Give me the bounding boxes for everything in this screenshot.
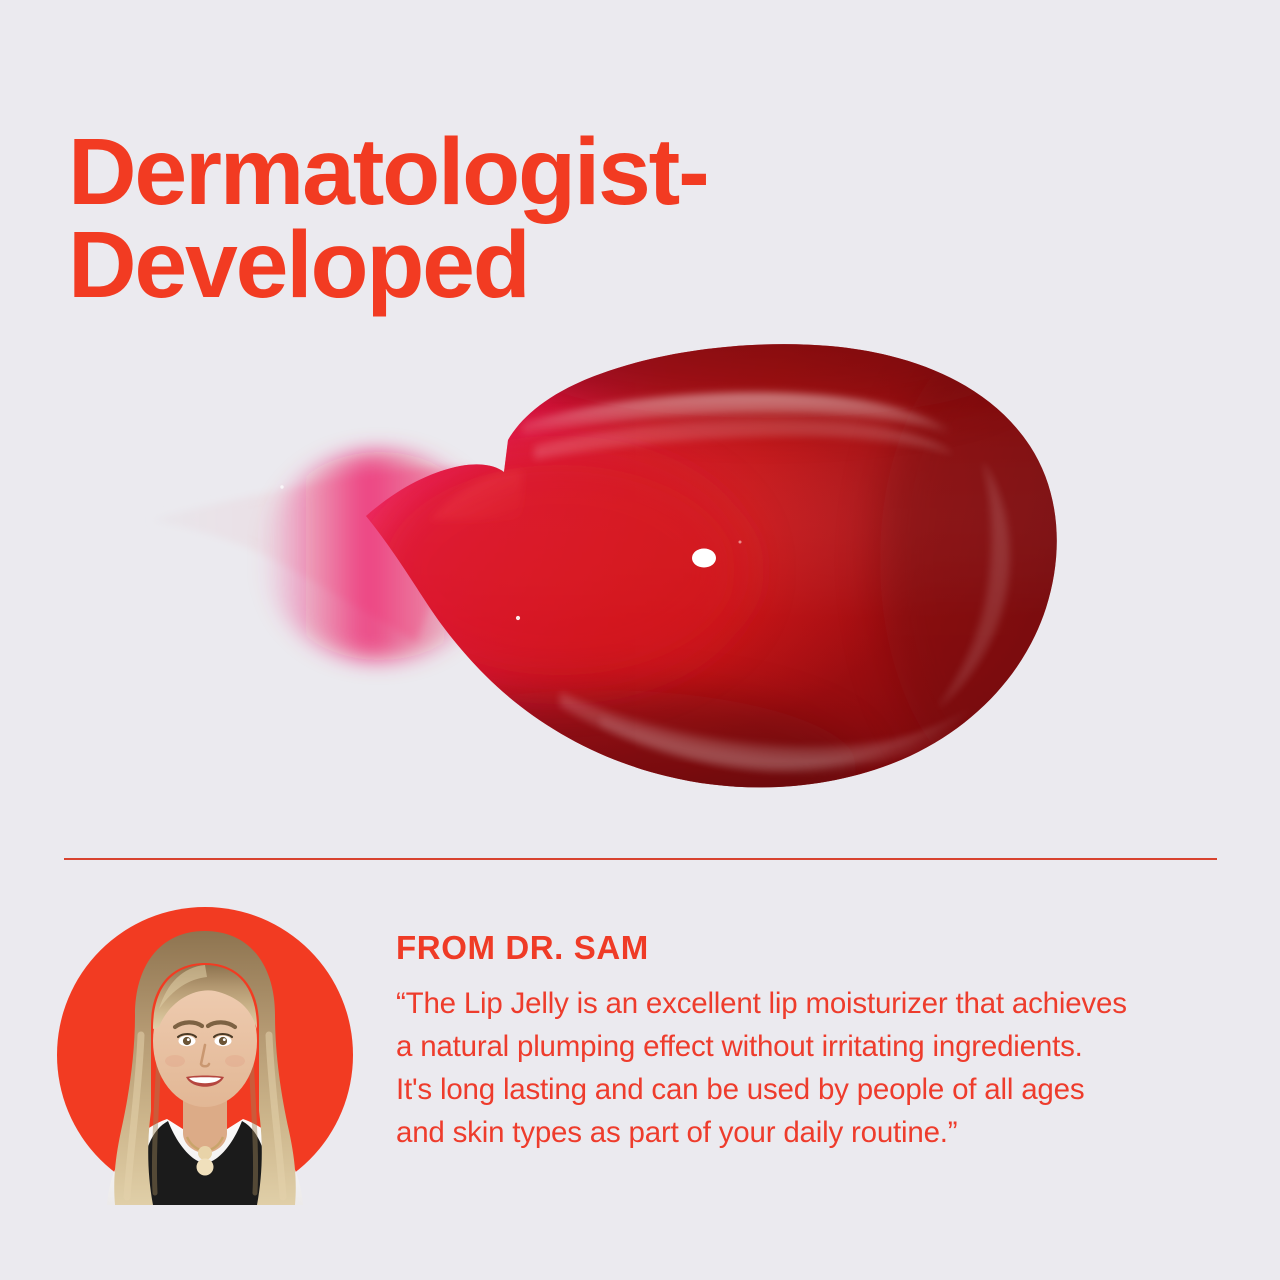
quote-block: FROM DR. SAM “The Lip Jelly is an excell… — [396, 931, 1206, 1154]
ad-canvas: Dermatologist- Developed — [0, 0, 1280, 1280]
page-title: Dermatologist- Developed — [68, 126, 968, 312]
doctor-portrait-icon — [55, 905, 355, 1205]
swatch-micro-bubble — [280, 485, 283, 488]
swatch-micro-bubble — [516, 616, 520, 620]
product-swatch — [130, 320, 1090, 800]
testimonial-title: FROM DR. SAM — [396, 931, 1206, 964]
swatch-air-bubble — [692, 549, 716, 568]
section-divider — [64, 858, 1217, 860]
swatch-micro-bubble — [739, 541, 742, 544]
avatar — [55, 905, 355, 1205]
testimonial-section: FROM DR. SAM “The Lip Jelly is an excell… — [0, 895, 1280, 1225]
testimonial-quote: “The Lip Jelly is an excellent lip moist… — [396, 982, 1206, 1154]
lip-gloss-swatch-icon — [130, 320, 1090, 800]
